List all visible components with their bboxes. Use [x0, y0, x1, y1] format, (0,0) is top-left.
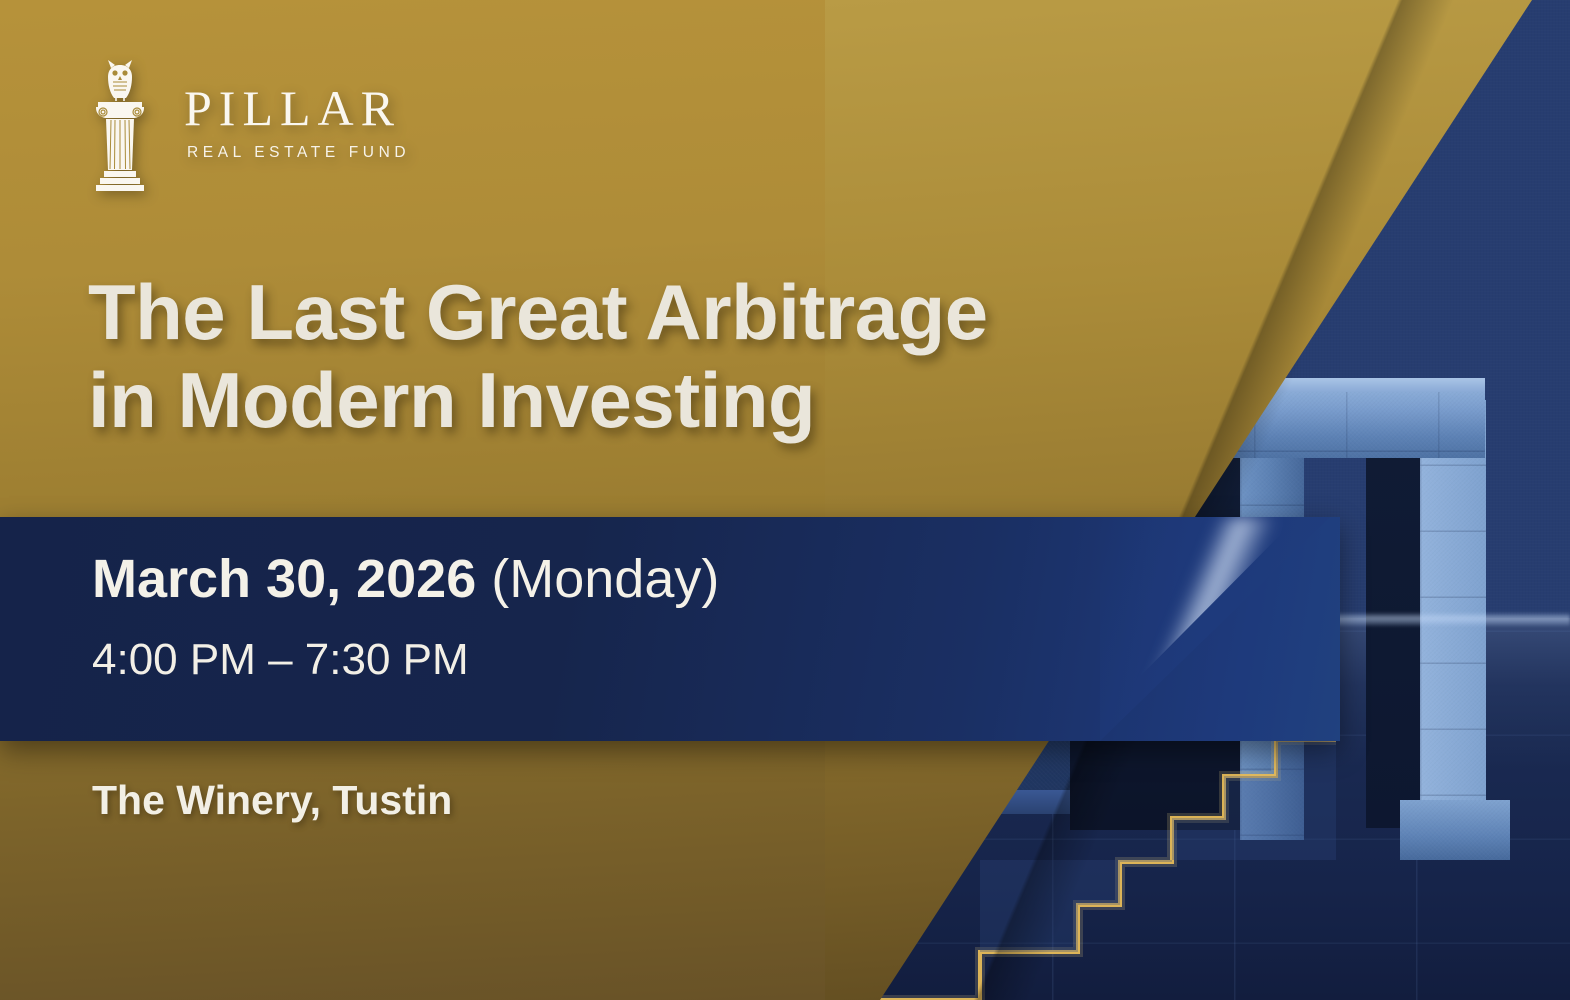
architecture-photo [820, 0, 1570, 1000]
event-day-of-week: (Monday) [491, 549, 719, 609]
event-banner: PILLAR REAL ESTATE FUND The Last Great A… [0, 0, 1570, 1000]
event-date: March 30, 2026 [92, 549, 476, 609]
headline-line-2: in Modern Investing [88, 356, 1268, 444]
event-date-line: March 30, 2026 (Monday) [92, 552, 719, 606]
page-title: The Last Great Arbitrage in Modern Inves… [88, 268, 1268, 444]
brand-tagline: REAL ESTATE FUND [187, 144, 410, 162]
brand-wordmark: PILLAR REAL ESTATE FUND [184, 83, 410, 162]
owl-on-ionic-column-icon [82, 52, 158, 192]
brand-logo[interactable]: PILLAR REAL ESTATE FUND [82, 52, 410, 192]
headline-line-1: The Last Great Arbitrage [88, 268, 1268, 356]
event-venue: The Winery, Tustin [92, 780, 452, 821]
brand-name: PILLAR [184, 83, 410, 133]
event-time: 4:00 PM – 7:30 PM [92, 638, 469, 682]
